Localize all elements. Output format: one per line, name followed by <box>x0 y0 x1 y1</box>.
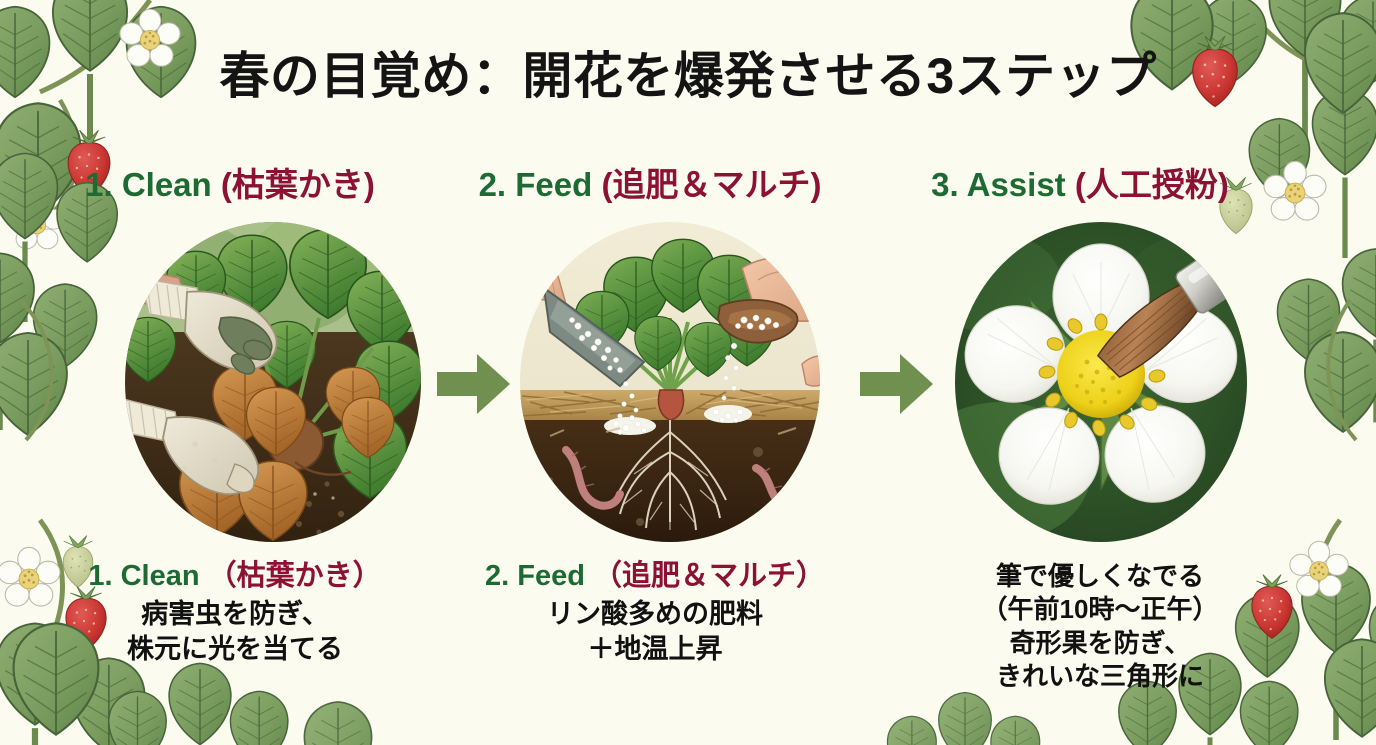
step-header-1-en: 1. Clean <box>85 166 221 203</box>
caption-row: 1. Clean （枯葉かき） 病害虫を防ぎ、 株元に光を当てる 2. Feed… <box>0 560 1376 693</box>
step-header-3-en: 3. Assist <box>931 166 1075 203</box>
caption-step-3: 筆で優しくなでる （午前10時〜正午） 奇形果を防ぎ、 きれいな三角形に <box>885 560 1315 693</box>
caption-2-heading-en: 2. Feed <box>485 560 593 592</box>
caption-3-line-4: きれいな三角形に <box>885 660 1315 693</box>
deco-cluster-left-middle <box>0 253 97 440</box>
caption-3-line-3: 奇形果を防ぎ、 <box>885 627 1315 660</box>
step-header-1-jp: (枯葉かき) <box>221 166 375 203</box>
step-header-3: 3. Assist (人工授粉) <box>860 158 1300 206</box>
step-3-image-brush-pollinating-flower <box>955 222 1247 542</box>
caption-1-line-2: 株元に光を当てる <box>25 632 445 667</box>
step-1-image-gloved-hands-removing-dead-leaves <box>125 222 421 542</box>
step-header-2: 2. Feed (追肥＆マルチ) <box>440 158 860 206</box>
arrow-step1-to-step2 <box>437 352 511 421</box>
caption-1-line-1: 病害虫を防ぎ、 <box>25 597 445 632</box>
arrow-step2-to-step3 <box>860 352 934 421</box>
caption-3-line-1: 筆で優しくなでる <box>885 560 1315 593</box>
caption-2-heading-jp: （追肥＆マルチ） <box>593 560 825 592</box>
caption-step-2: 2. Feed （追肥＆マルチ） リン酸多めの肥料 ＋地温上昇 <box>445 560 865 693</box>
caption-2-line-1: リン酸多めの肥料 <box>445 597 865 632</box>
step-header-3-jp: (人工授粉) <box>1075 166 1229 203</box>
caption-2-heading: 2. Feed （追肥＆マルチ） <box>445 560 865 593</box>
caption-step-1: 1. Clean （枯葉かき） 病害虫を防ぎ、 株元に光を当てる <box>25 560 445 693</box>
deco-cluster-bottom-center <box>304 692 1039 745</box>
infographic-poster: 春の目覚め：開花を爆発させる3ステップ 1. Clean (枯葉かき) 2. F… <box>0 0 1376 745</box>
caption-1-heading-en: 1. Clean <box>88 560 207 592</box>
caption-1-heading-jp: （枯葉かき） <box>208 560 382 592</box>
step-header-2-en: 2. Feed <box>479 166 602 203</box>
step-header-row: 1. Clean (枯葉かき) 2. Feed (追肥＆マルチ) 3. Assi… <box>0 158 1376 206</box>
step-header-2-jp: (追肥＆マルチ) <box>601 166 821 203</box>
deco-cluster-right-middle <box>1277 249 1376 440</box>
poster-title: 春の目覚め：開花を爆発させる3ステップ <box>0 36 1376 108</box>
step-2-image-fertilizer-mulch-cross-section <box>520 222 820 542</box>
caption-2-line-2: ＋地温上昇 <box>445 632 865 667</box>
step-header-1: 1. Clean (枯葉かき) <box>20 158 440 206</box>
caption-3-line-2: （午前10時〜正午） <box>885 593 1315 626</box>
caption-1-heading: 1. Clean （枯葉かき） <box>25 560 445 593</box>
